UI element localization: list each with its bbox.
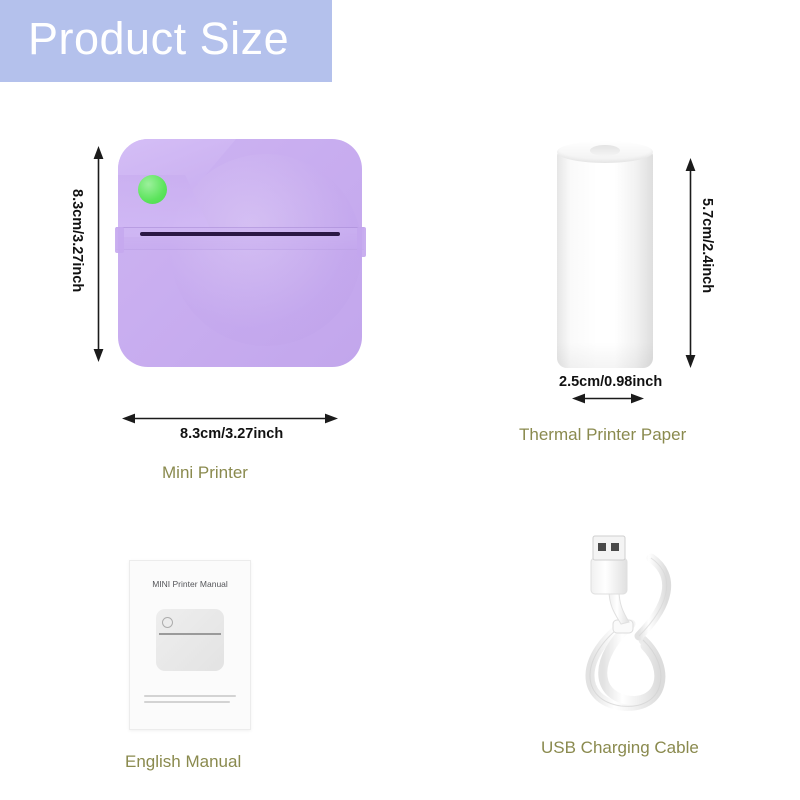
manual-art-paper-slot <box>159 633 221 635</box>
english-manual-caption: English Manual <box>125 752 241 772</box>
paper-width-label: 2.5cm/0.98inch <box>559 374 662 390</box>
product-size-infographic: Product Size 8.3cm/3.27inch <box>0 0 800 800</box>
manual-fine-print <box>144 695 236 707</box>
thermal-paper-illustration <box>557 141 653 368</box>
thermal-paper-caption: Thermal Printer Paper <box>519 425 686 445</box>
manual-booklet-illustration: MINI Printer Manual <box>129 560 251 730</box>
printer-side-tab-left <box>115 227 124 253</box>
manual-cover-printer-art <box>156 609 224 671</box>
manual-fine-print-line <box>144 695 236 697</box>
printer-side-tab-right <box>357 227 366 257</box>
usb-cable-illustration <box>565 528 715 713</box>
manual-fine-print-line <box>144 701 230 703</box>
printer-lid-seam <box>116 227 364 250</box>
printer-width-arrow <box>122 412 338 425</box>
paper-height-arrow <box>684 158 697 368</box>
paper-roll-core-hole <box>590 145 620 156</box>
page-title: Product Size <box>28 8 289 70</box>
header-banner: Product Size <box>0 0 332 82</box>
paper-roll-base-shadow <box>557 342 653 368</box>
mini-printer-caption: Mini Printer <box>162 463 248 483</box>
mini-printer-illustration <box>118 139 362 367</box>
usb-cable-caption: USB Charging Cable <box>541 738 699 758</box>
manual-art-power-button-icon <box>162 617 173 628</box>
manual-cover-title: MINI Printer Manual <box>130 579 250 589</box>
paper-roll-body <box>557 150 653 368</box>
printer-height-arrow <box>92 146 105 362</box>
printer-width-label: 8.3cm/3.27inch <box>180 426 283 442</box>
printer-paper-slot <box>140 232 340 236</box>
printer-height-label: 8.3cm/3.27inch <box>69 189 85 292</box>
power-button-icon <box>138 175 167 204</box>
paper-height-label: 5.7cm/2.4inch <box>699 198 715 293</box>
paper-width-arrow <box>572 392 644 405</box>
